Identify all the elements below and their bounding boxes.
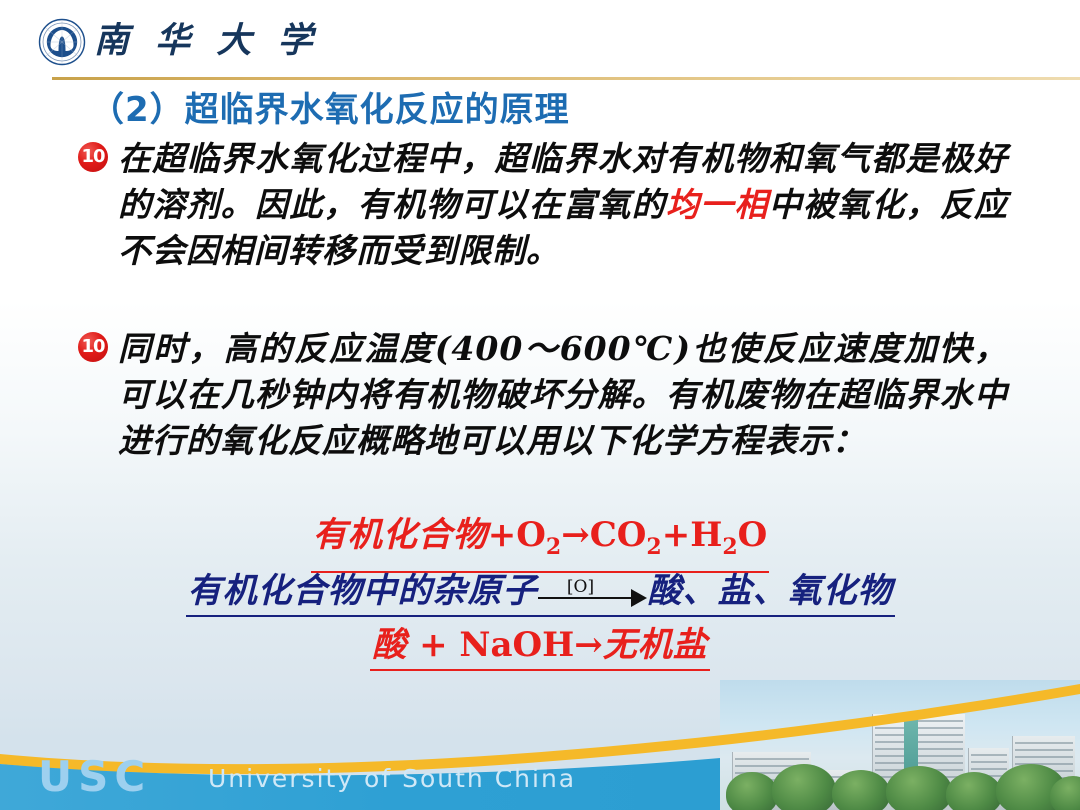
university-name-cn: 南 华 大 学: [94, 18, 320, 64]
slide: 南 华 大 学 （2）超临界水氧化反应的原理 10 在超临界水氧化过程中，超临界…: [0, 0, 1080, 810]
eq1-plus-2: +: [662, 515, 691, 555]
eq1-arrow: →: [561, 515, 590, 555]
usc-seal-icon: [38, 18, 86, 66]
eq2-arrow-label: [O]: [538, 564, 624, 610]
eq3-naoh: NaOH: [459, 625, 574, 665]
reaction-arrow-icon: [O]: [538, 576, 648, 610]
eq3-arrow: →: [574, 625, 603, 665]
eq3-product: 无机盐: [603, 625, 708, 665]
equation-3: 酸 + NaOH→无机盐: [0, 622, 1080, 671]
eq2-left: 有机化合物中的杂原子: [188, 571, 538, 611]
eq1-h2o-o: O: [738, 515, 768, 555]
bullet-item-2: 10 同时，高的反应温度(400～600℃)也使反应速度加快，可以在几秒钟内将有…: [78, 326, 1008, 464]
slide-header: 南 华 大 学: [0, 0, 1080, 82]
slide-footer: USC University of South China: [0, 680, 1080, 810]
header-divider: [52, 77, 1080, 80]
page-title: （2）超临界水氧化反应的原理: [90, 82, 570, 131]
usc-wordmark: USC: [38, 756, 151, 798]
bullet-1-highlight: 均一相: [666, 185, 769, 224]
equation-2: 有机化合物中的杂原子[O]酸、盐、氧化物: [0, 568, 1080, 617]
arrow-head: [631, 589, 647, 607]
bullet-marker-icon: 10: [78, 332, 108, 362]
arrow-shaft: [538, 597, 636, 599]
usc-full-name: University of South China: [208, 764, 576, 794]
eq1-reactant: 有机化合物: [313, 515, 488, 555]
eq1-o2-subscript: 2: [546, 534, 561, 560]
eq3-acid: 酸: [372, 625, 407, 665]
eq1-co2: CO: [590, 515, 647, 555]
bullet-item-1: 10 在超临界水氧化过程中，超临界水对有机物和氧气都是极好的溶剂。因此，有机物可…: [78, 136, 1008, 274]
bullet-text-1: 在超临界水氧化过程中，超临界水对有机物和氧气都是极好的溶剂。因此，有机物可以在富…: [118, 136, 1008, 274]
equation-3-content: 酸 + NaOH→无机盐: [370, 622, 710, 671]
eq2-right: 酸、盐、氧化物: [648, 571, 893, 611]
eq1-h2o-h: H: [690, 515, 722, 555]
eq1-h2o-subscript: 2: [722, 534, 737, 560]
eq1-o2: O: [516, 515, 546, 555]
equation-2-content: 有机化合物中的杂原子[O]酸、盐、氧化物: [186, 568, 895, 617]
eq1-co2-subscript: 2: [646, 534, 661, 560]
eq3-plus: +: [419, 625, 448, 665]
eq1-plus-1: +: [488, 515, 517, 555]
bullet-marker-icon: 10: [78, 142, 108, 172]
bullet-text-2: 同时，高的反应温度(400～600℃)也使反应速度加快，可以在几秒钟内将有机物破…: [118, 326, 1008, 464]
